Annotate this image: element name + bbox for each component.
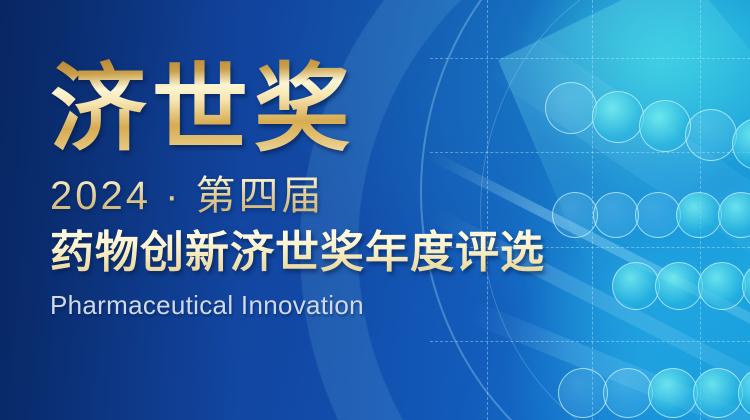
molecule-bead — [639, 100, 691, 152]
molecule-chain-1 — [552, 192, 750, 238]
molecule-bead — [552, 192, 598, 238]
award-title: 济世奖 — [50, 0, 545, 158]
molecule-chain-0 — [545, 82, 750, 134]
molecule-bead — [693, 368, 743, 418]
molecule-bead — [593, 192, 639, 238]
molecule-bead — [718, 192, 750, 238]
molecule-bead — [603, 368, 653, 418]
light-band-3 — [466, 301, 750, 420]
molecule-bead — [655, 262, 703, 310]
award-banner: 济世奖 2024 · 第四届 药物创新济世奖年度评选 Pharmaceutica… — [0, 0, 750, 420]
molecule-bead — [635, 192, 681, 238]
molecule-bead — [738, 368, 750, 418]
molecule-bead — [742, 262, 750, 310]
molecule-bead — [698, 262, 746, 310]
grid-line-vertical-2 — [700, 0, 701, 420]
banner-text-block: 济世奖 2024 · 第四届 药物创新济世奖年度评选 Pharmaceutica… — [50, 0, 545, 318]
grid-line-horizontal-3 — [430, 341, 750, 342]
award-english-title: Pharmaceutical Innovation — [50, 276, 545, 318]
cyan-glow-mid-right — [520, 150, 750, 410]
molecule-bead — [676, 192, 722, 238]
molecule-bead — [545, 82, 597, 134]
molecule-chain-2 — [612, 262, 750, 310]
molecule-bead — [732, 118, 750, 170]
grid-line-vertical-1 — [592, 0, 593, 420]
molecule-chain-3 — [558, 368, 750, 418]
molecule-bead — [648, 368, 698, 418]
cyan-glow-top-right — [510, 0, 750, 210]
award-subtitle: 药物创新济世奖年度评选 — [50, 216, 545, 276]
molecule-bead — [685, 109, 737, 161]
molecule-bead — [612, 262, 660, 310]
edition-year-label: 2024 · 第四届 — [50, 158, 545, 216]
molecule-bead — [592, 91, 644, 143]
molecule-bead — [558, 368, 608, 418]
